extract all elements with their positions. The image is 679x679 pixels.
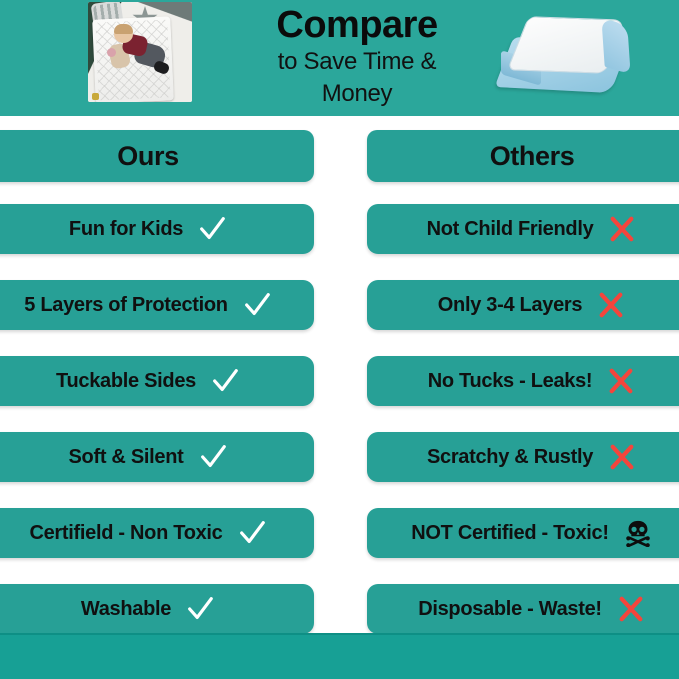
- header-banner: Compare to Save Time & Money: [0, 0, 679, 116]
- skull-icon: [623, 518, 653, 548]
- ours-feature-pill: Tuckable Sides: [0, 356, 314, 406]
- page-subtitle-line2: Money: [232, 76, 482, 108]
- cross-icon: [607, 214, 637, 244]
- cross-icon: [606, 366, 636, 396]
- others-feature-pill: Only 3-4 Layers: [367, 280, 679, 330]
- ours-feature-label: Washable: [81, 598, 171, 621]
- others-feature-pill: No Tucks - Leaks!: [367, 356, 679, 406]
- comparison-infographic: Compare to Save Time & Money Ours Others…: [0, 0, 679, 679]
- ours-feature-pill: 5 Layers of Protection: [0, 280, 314, 330]
- table-row: 5 Layers of Protection Only 3-4 Layers: [0, 280, 679, 330]
- footer-bar: [0, 633, 679, 679]
- check-icon: [237, 518, 267, 548]
- cross-icon: [596, 290, 626, 320]
- ours-feature-pill: Certifield - Non Toxic: [0, 508, 314, 558]
- ours-feature-label: Tuckable Sides: [56, 370, 196, 393]
- column-header-ours-label: Ours: [117, 141, 178, 172]
- column-header-row: Ours Others: [0, 130, 679, 182]
- photo-corner-tag: [92, 93, 99, 100]
- others-feature-label: Scratchy & Rustly: [427, 446, 593, 469]
- others-feature-label: Disposable - Waste!: [418, 598, 602, 621]
- product-folded-corner: [601, 18, 630, 75]
- table-row: Soft & Silent Scratchy & Rustly: [0, 432, 679, 482]
- ours-feature-label: Fun for Kids: [69, 218, 183, 241]
- others-feature-label: NOT Certified - Toxic!: [411, 522, 608, 545]
- column-header-others: Others: [367, 130, 679, 182]
- others-feature-label: Only 3-4 Layers: [438, 294, 582, 317]
- ours-feature-pill: Washable: [0, 584, 314, 634]
- baby-on-mattress-photo: [88, 2, 192, 102]
- column-header-others-label: Others: [490, 141, 575, 172]
- column-header-ours: Ours: [0, 130, 314, 182]
- table-row: Certifield - Non Toxic NOT Certified - T…: [0, 508, 679, 558]
- ours-feature-pill: Fun for Kids: [0, 204, 314, 254]
- page-subtitle-line1: to Save Time &: [232, 44, 482, 76]
- check-icon: [242, 290, 272, 320]
- folded-waterproof-pad-photo: [495, 12, 635, 104]
- cross-icon: [607, 442, 637, 472]
- photo-toy-accent: [107, 48, 116, 57]
- others-feature-pill: NOT Certified - Toxic!: [367, 508, 679, 558]
- check-icon: [197, 214, 227, 244]
- others-feature-label: No Tucks - Leaks!: [428, 370, 593, 393]
- others-feature-label: Not Child Friendly: [427, 218, 594, 241]
- table-row: Fun for Kids Not Child Friendly: [0, 204, 679, 254]
- others-feature-pill: Disposable - Waste!: [367, 584, 679, 634]
- others-feature-pill: Scratchy & Rustly: [367, 432, 679, 482]
- ours-feature-label: 5 Layers of Protection: [24, 294, 227, 317]
- check-icon: [210, 366, 240, 396]
- ours-feature-label: Soft & Silent: [69, 446, 184, 469]
- check-icon: [198, 442, 228, 472]
- cross-icon: [616, 594, 646, 624]
- comparison-table: Ours Others Fun for Kids Not Child Frien…: [0, 116, 679, 635]
- check-icon: [185, 594, 215, 624]
- photo-baby-hair: [114, 24, 133, 34]
- table-row: Washable Disposable - Waste!: [0, 584, 679, 634]
- table-row: Tuckable Sides No Tucks - Leaks!: [0, 356, 679, 406]
- ours-feature-label: Certifield - Non Toxic: [29, 522, 222, 545]
- header-title-block: Compare to Save Time & Money: [232, 2, 482, 107]
- page-title: Compare: [232, 2, 482, 44]
- others-feature-pill: Not Child Friendly: [367, 204, 679, 254]
- ours-feature-pill: Soft & Silent: [0, 432, 314, 482]
